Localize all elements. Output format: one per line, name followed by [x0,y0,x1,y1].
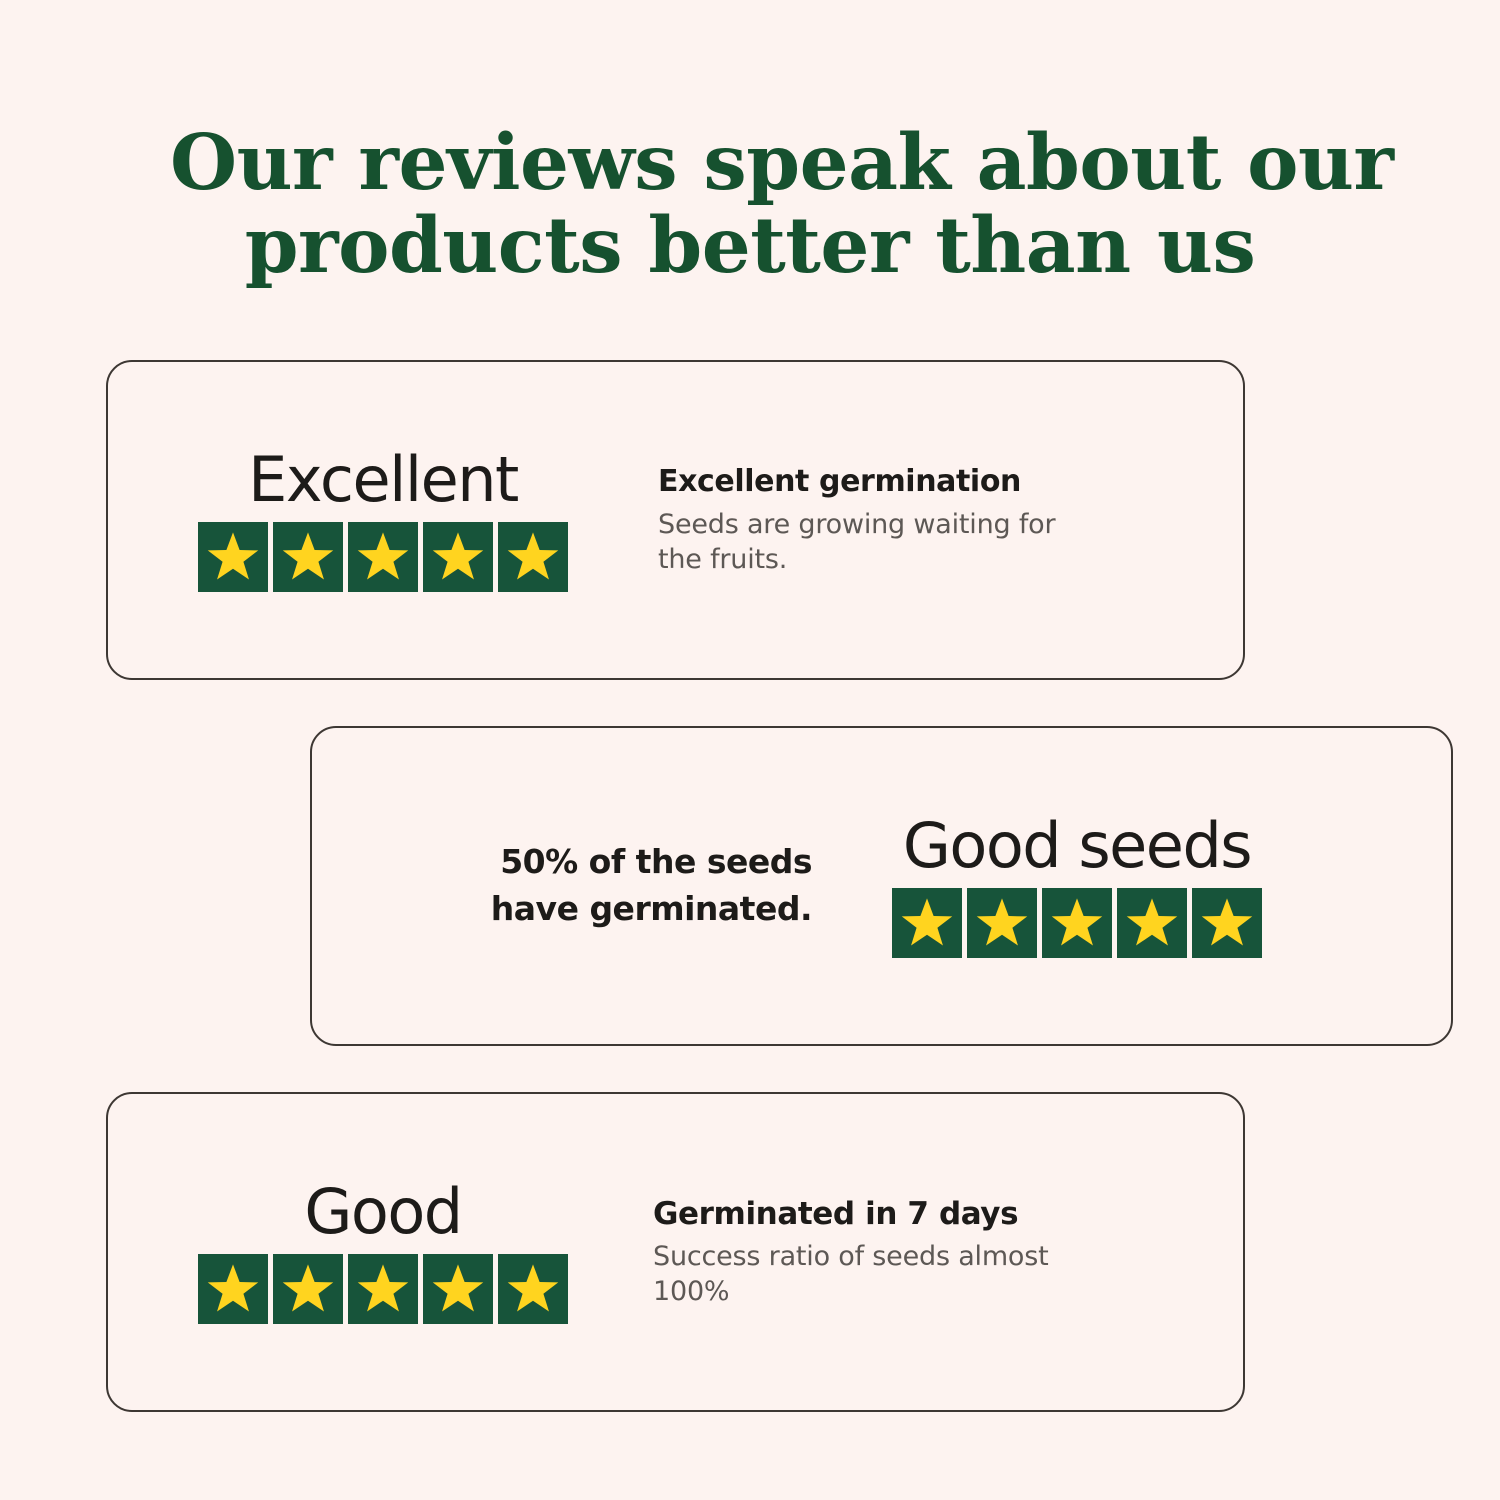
star-icon [967,888,1037,958]
rating-block: Good [198,1180,568,1323]
star-icon [1117,888,1187,958]
review-body: Seeds are growing waiting for the fruits… [658,507,1088,577]
star-icon [1192,888,1262,958]
star-icon [892,888,962,958]
star-icon [348,1254,418,1324]
review-title: Germinated in 7 days [653,1195,1103,1234]
star-icon [273,522,343,592]
review-card-good-seeds: 50% of the seeds have germinated. Good s… [310,726,1453,1046]
star-icon [348,522,418,592]
star-icon [423,1254,493,1324]
review-text-block: Excellent germination Seeds are growing … [658,463,1088,577]
review-text-block: Germinated in 7 days Success ratio of se… [653,1195,1103,1310]
star-icon [498,522,568,592]
rating-block: Good seeds [892,814,1262,957]
star-icon [1042,888,1112,958]
star-icon [198,1254,268,1324]
star-rating [198,1254,568,1324]
review-body: Success ratio of seeds almost 100% [653,1239,1103,1309]
page-title-line-2: products better than us [170,205,1330,288]
star-icon [198,522,268,592]
page-title: Our reviews speak about our products bet… [0,122,1500,288]
review-card-excellent: Excellent Excellent germination Seeds ar… [106,360,1245,680]
review-statement: 50% of the seeds have germinated. [422,839,812,933]
star-rating [198,522,568,592]
reviews-page: Our reviews speak about our products bet… [0,0,1500,1500]
star-rating [892,888,1262,958]
rating-label: Good [304,1180,461,1243]
review-card-good: Good Germinated in 7 days Success ratio … [106,1092,1245,1412]
rating-label: Excellent [248,448,518,511]
page-title-line-1: Our reviews speak about our [170,122,1330,205]
review-title: Excellent germination [658,463,1088,501]
rating-label: Good seeds [903,814,1251,877]
rating-block: Excellent [198,448,568,591]
star-icon [498,1254,568,1324]
star-icon [423,522,493,592]
star-icon [273,1254,343,1324]
